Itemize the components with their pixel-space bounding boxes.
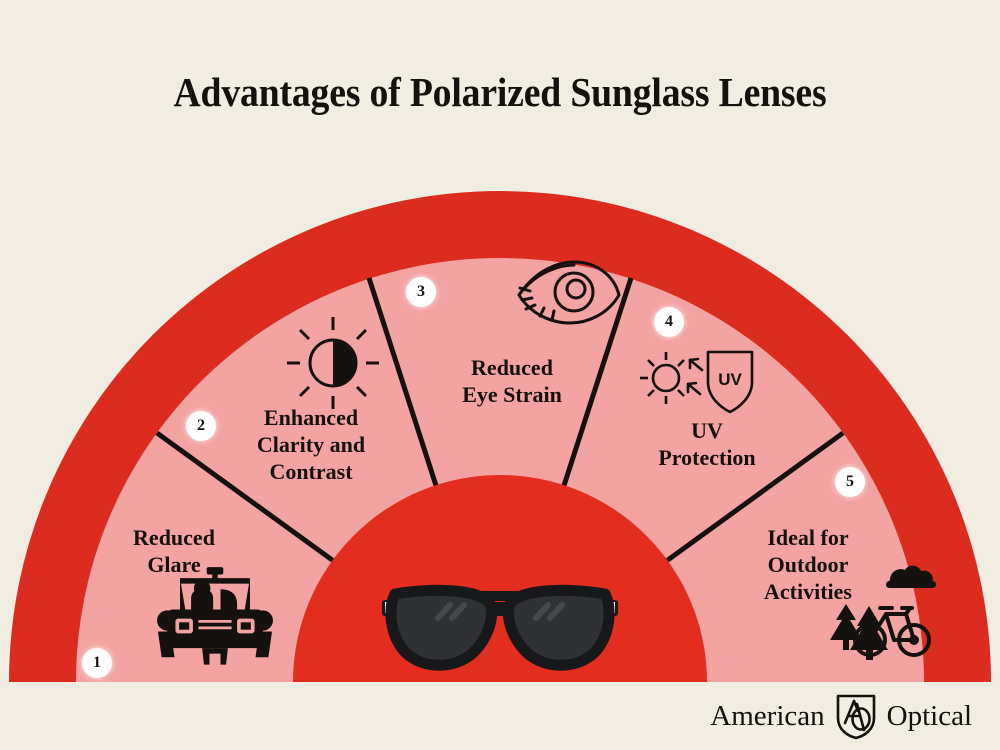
segment-badge-4: 4	[654, 307, 684, 337]
segment-badge-1: 1	[82, 648, 112, 678]
uv-icon-text: UV	[718, 370, 742, 389]
ao-shield-logo	[834, 692, 878, 740]
segment-badge-5: 5	[835, 467, 865, 497]
page-title: Advantages of Polarized Sunglass Lenses	[40, 68, 960, 116]
brand-lockup: American Optical	[710, 692, 972, 740]
segment-badge-2: 2	[186, 411, 216, 441]
brand-name-left: American	[710, 700, 824, 733]
segment-badge-3: 3	[406, 277, 436, 307]
brand-name-right: Optical	[887, 700, 972, 733]
bottom-bar: American Optical	[0, 682, 1000, 750]
